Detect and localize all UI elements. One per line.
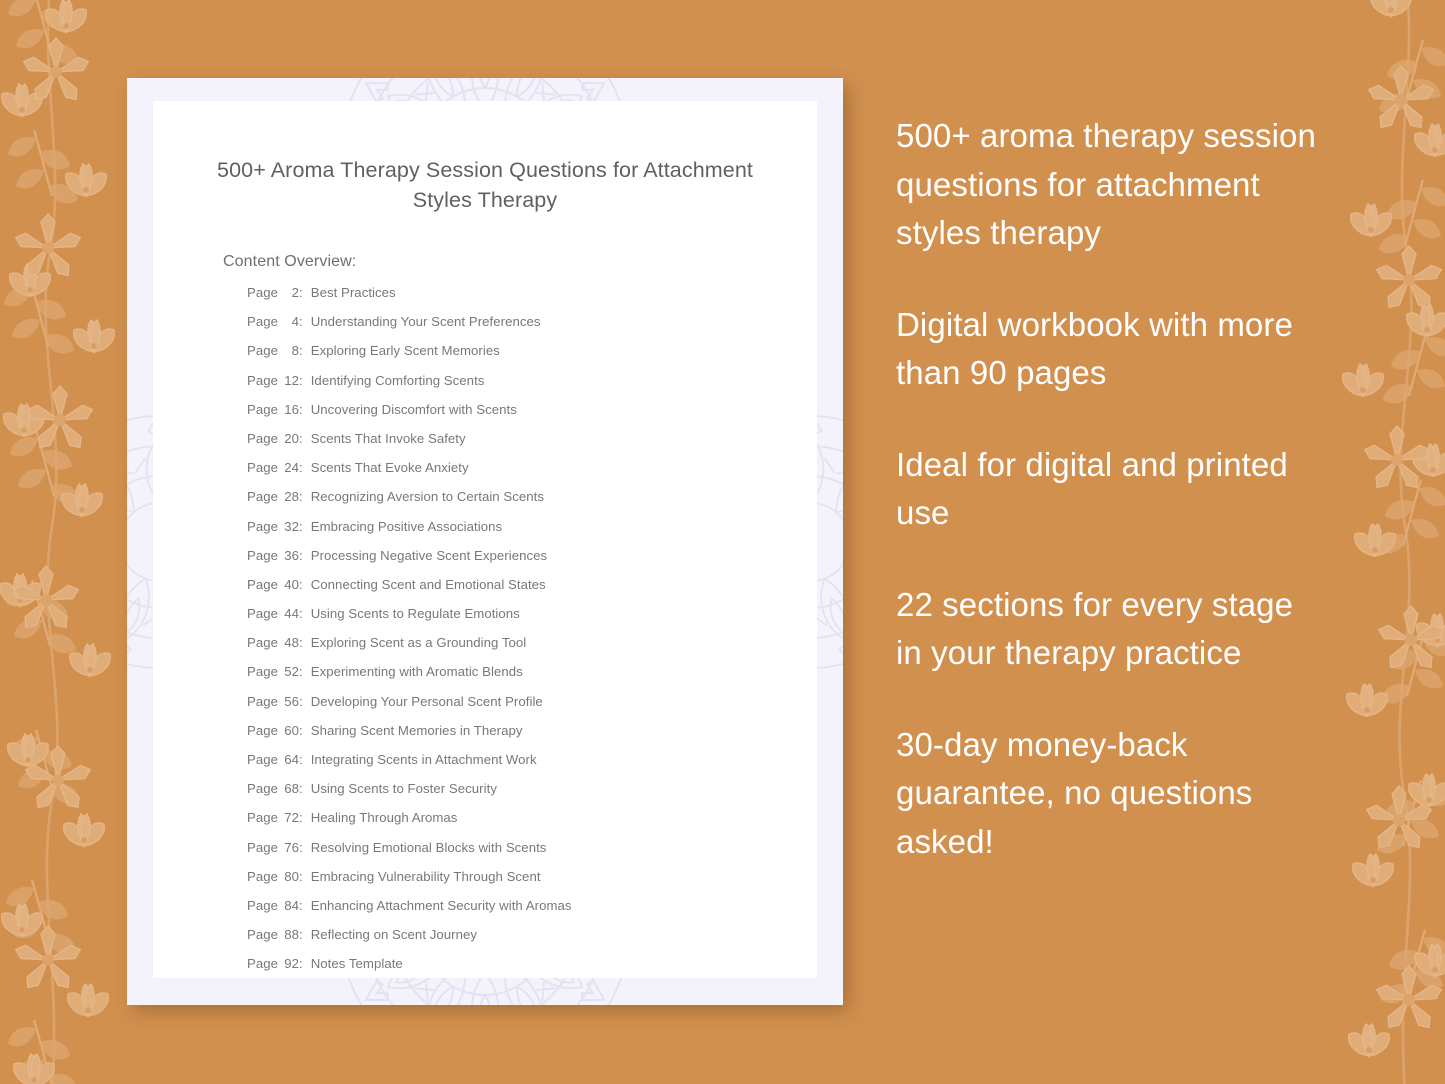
toc-row: Page 84:Enhancing Attachment Security wi… bbox=[247, 898, 817, 927]
toc-colon: : bbox=[299, 840, 311, 855]
toc-page-number: 12 bbox=[278, 373, 299, 388]
toc-colon: : bbox=[299, 548, 311, 563]
toc-row: Page 8:Exploring Early Scent Memories bbox=[247, 343, 817, 372]
toc-page-word: Page bbox=[247, 723, 278, 738]
promo-block: 30-day money-back guarantee, no question… bbox=[896, 721, 1316, 867]
toc-section-title: Uncovering Discomfort with Scents bbox=[311, 402, 517, 417]
toc-page-word: Page bbox=[247, 956, 278, 971]
toc-row: Page 56:Developing Your Personal Scent P… bbox=[247, 694, 817, 723]
toc-page-number: 88 bbox=[278, 927, 299, 942]
floral-vine-border-left-icon bbox=[0, 0, 144, 1084]
toc-section-title: Processing Negative Scent Experiences bbox=[311, 548, 547, 563]
toc-colon: : bbox=[299, 343, 311, 358]
toc-page-number: 68 bbox=[278, 781, 299, 796]
floral-vine-border-right-icon bbox=[1313, 0, 1445, 1084]
toc-colon: : bbox=[299, 489, 311, 504]
toc-page-word: Page bbox=[247, 781, 278, 796]
toc-page-number: 16 bbox=[278, 402, 299, 417]
toc-colon: : bbox=[299, 373, 311, 388]
toc-section-title: Experimenting with Aromatic Blends bbox=[311, 664, 523, 679]
toc-colon: : bbox=[299, 752, 311, 767]
toc-colon: : bbox=[299, 460, 311, 475]
table-of-contents: Page 2:Best PracticesPage 4:Understandin… bbox=[153, 271, 817, 986]
toc-page-number: 36 bbox=[278, 548, 299, 563]
toc-page-number: 84 bbox=[278, 898, 299, 913]
toc-page-number: 28 bbox=[278, 489, 299, 504]
toc-page-word: Page bbox=[247, 898, 278, 913]
toc-row: Page 72:Healing Through Aromas bbox=[247, 810, 817, 839]
page-title: 500+ Aroma Therapy Session Questions for… bbox=[153, 101, 817, 215]
toc-row: Page 52:Experimenting with Aromatic Blen… bbox=[247, 664, 817, 693]
toc-row: Page 20:Scents That Invoke Safety bbox=[247, 431, 817, 460]
toc-section-title: Healing Through Aromas bbox=[311, 810, 458, 825]
toc-page-word: Page bbox=[247, 314, 278, 329]
toc-section-title: Scents That Evoke Anxiety bbox=[311, 460, 469, 475]
toc-page-word: Page bbox=[247, 752, 278, 767]
toc-colon: : bbox=[299, 898, 311, 913]
toc-page-word: Page bbox=[247, 927, 278, 942]
toc-page-number: 72 bbox=[278, 810, 299, 825]
toc-colon: : bbox=[299, 635, 311, 650]
promo-block: Ideal for digital and printed use bbox=[896, 441, 1316, 538]
document-page: 500+ Aroma Therapy Session Questions for… bbox=[153, 101, 817, 978]
toc-page-word: Page bbox=[247, 402, 278, 417]
toc-page-number: 76 bbox=[278, 840, 299, 855]
toc-page-number: 64 bbox=[278, 752, 299, 767]
toc-section-title: Resolving Emotional Blocks with Scents bbox=[311, 840, 547, 855]
toc-colon: : bbox=[299, 577, 311, 592]
promo-block: 500+ aroma therapy session questions for… bbox=[896, 112, 1316, 258]
toc-row: Page 60:Sharing Scent Memories in Therap… bbox=[247, 723, 817, 752]
toc-page-word: Page bbox=[247, 694, 278, 709]
toc-colon: : bbox=[299, 431, 311, 446]
promo-block: 22 sections for every stage in your ther… bbox=[896, 581, 1316, 678]
toc-section-title: Sharing Scent Memories in Therapy bbox=[311, 723, 523, 738]
toc-page-word: Page bbox=[247, 810, 278, 825]
toc-page-number: 44 bbox=[278, 606, 299, 621]
toc-row: Page 4:Understanding Your Scent Preferen… bbox=[247, 314, 817, 343]
toc-colon: : bbox=[299, 927, 311, 942]
toc-page-number: 52 bbox=[278, 664, 299, 679]
toc-colon: : bbox=[299, 694, 311, 709]
toc-section-title: Exploring Scent as a Grounding Tool bbox=[311, 635, 527, 650]
toc-colon: : bbox=[299, 606, 311, 621]
toc-row: Page 76:Resolving Emotional Blocks with … bbox=[247, 840, 817, 869]
toc-page-number: 56 bbox=[278, 694, 299, 709]
toc-section-title: Understanding Your Scent Preferences bbox=[311, 314, 541, 329]
toc-page-word: Page bbox=[247, 343, 278, 358]
toc-page-number: 2 bbox=[278, 285, 299, 300]
toc-page-number: 20 bbox=[278, 431, 299, 446]
toc-section-title: Identifying Comforting Scents bbox=[311, 373, 485, 388]
toc-page-word: Page bbox=[247, 373, 278, 388]
content-overview-label: Content Overview: bbox=[153, 215, 817, 271]
toc-row: Page 68:Using Scents to Foster Security bbox=[247, 781, 817, 810]
toc-section-title: Embracing Positive Associations bbox=[311, 519, 502, 534]
toc-page-number: 24 bbox=[278, 460, 299, 475]
toc-colon: : bbox=[299, 810, 311, 825]
toc-section-title: Embracing Vulnerability Through Scent bbox=[311, 869, 541, 884]
toc-row: Page 92:Notes Template bbox=[247, 956, 817, 985]
toc-colon: : bbox=[299, 285, 311, 300]
toc-row: Page 32:Embracing Positive Associations bbox=[247, 519, 817, 548]
toc-row: Page 24:Scents That Evoke Anxiety bbox=[247, 460, 817, 489]
toc-colon: : bbox=[299, 314, 311, 329]
toc-colon: : bbox=[299, 664, 311, 679]
toc-row: Page 88:Reflecting on Scent Journey bbox=[247, 927, 817, 956]
toc-row: Page 16:Uncovering Discomfort with Scent… bbox=[247, 402, 817, 431]
toc-section-title: Recognizing Aversion to Certain Scents bbox=[311, 489, 544, 504]
toc-row: Page 12:Identifying Comforting Scents bbox=[247, 373, 817, 402]
toc-section-title: Exploring Early Scent Memories bbox=[311, 343, 500, 358]
toc-page-word: Page bbox=[247, 606, 278, 621]
toc-section-title: Integrating Scents in Attachment Work bbox=[311, 752, 537, 767]
toc-page-number: 8 bbox=[278, 343, 299, 358]
toc-page-word: Page bbox=[247, 577, 278, 592]
toc-section-title: Using Scents to Foster Security bbox=[311, 781, 497, 796]
toc-section-title: Notes Template bbox=[311, 956, 403, 971]
toc-section-title: Using Scents to Regulate Emotions bbox=[311, 606, 520, 621]
toc-section-title: Reflecting on Scent Journey bbox=[311, 927, 477, 942]
toc-page-number: 40 bbox=[278, 577, 299, 592]
product-listing-graphic: 500+ Aroma Therapy Session Questions for… bbox=[0, 0, 1445, 1084]
toc-section-title: Best Practices bbox=[311, 285, 396, 300]
toc-page-number: 92 bbox=[278, 956, 299, 971]
toc-page-word: Page bbox=[247, 840, 278, 855]
toc-section-title: Enhancing Attachment Security with Aroma… bbox=[311, 898, 572, 913]
toc-section-title: Developing Your Personal Scent Profile bbox=[311, 694, 543, 709]
promo-copy-column: 500+ aroma therapy session questions for… bbox=[896, 112, 1316, 866]
toc-row: Page 40:Connecting Scent and Emotional S… bbox=[247, 577, 817, 606]
toc-page-word: Page bbox=[247, 431, 278, 446]
toc-page-word: Page bbox=[247, 664, 278, 679]
toc-page-number: 80 bbox=[278, 869, 299, 884]
toc-colon: : bbox=[299, 402, 311, 417]
toc-page-number: 32 bbox=[278, 519, 299, 534]
toc-page-word: Page bbox=[247, 285, 278, 300]
toc-section-title: Scents That Invoke Safety bbox=[311, 431, 466, 446]
toc-row: Page 48:Exploring Scent as a Grounding T… bbox=[247, 635, 817, 664]
toc-page-word: Page bbox=[247, 489, 278, 504]
toc-page-word: Page bbox=[247, 869, 278, 884]
toc-colon: : bbox=[299, 956, 311, 971]
toc-page-word: Page bbox=[247, 519, 278, 534]
toc-row: Page 28:Recognizing Aversion to Certain … bbox=[247, 489, 817, 518]
toc-colon: : bbox=[299, 723, 311, 738]
toc-page-number: 4 bbox=[278, 314, 299, 329]
toc-colon: : bbox=[299, 869, 311, 884]
promo-block: Digital workbook with more than 90 pages bbox=[896, 301, 1316, 398]
toc-row: Page 64:Integrating Scents in Attachment… bbox=[247, 752, 817, 781]
toc-row: Page 2:Best Practices bbox=[247, 285, 817, 314]
toc-section-title: Connecting Scent and Emotional States bbox=[311, 577, 546, 592]
toc-page-word: Page bbox=[247, 548, 278, 563]
toc-page-number: 60 bbox=[278, 723, 299, 738]
toc-page-word: Page bbox=[247, 460, 278, 475]
toc-row: Page 80:Embracing Vulnerability Through … bbox=[247, 869, 817, 898]
document-preview-card: 500+ Aroma Therapy Session Questions for… bbox=[127, 78, 843, 1005]
toc-row: Page 36:Processing Negative Scent Experi… bbox=[247, 548, 817, 577]
toc-page-word: Page bbox=[247, 635, 278, 650]
toc-colon: : bbox=[299, 519, 311, 534]
toc-page-number: 48 bbox=[278, 635, 299, 650]
toc-colon: : bbox=[299, 781, 311, 796]
toc-row: Page 44:Using Scents to Regulate Emotion… bbox=[247, 606, 817, 635]
